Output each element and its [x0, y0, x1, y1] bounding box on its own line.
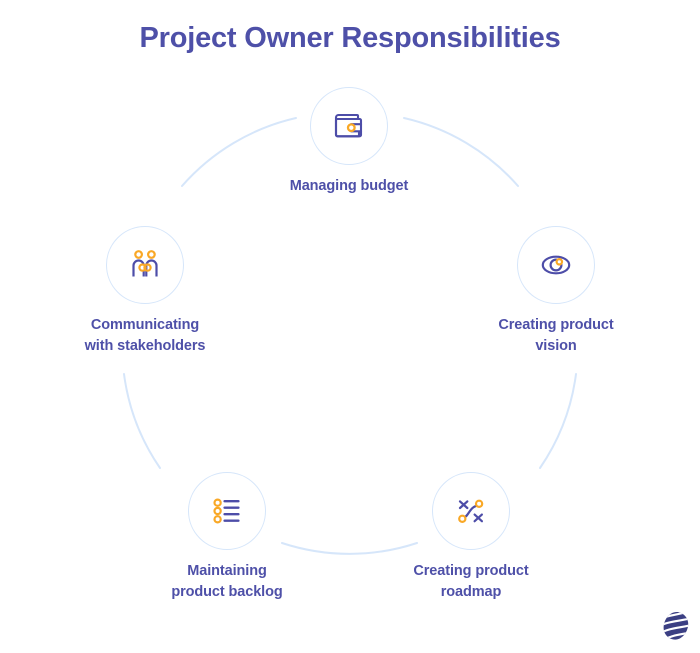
brand-logo-mark	[662, 611, 690, 641]
wallet-icon	[327, 104, 371, 148]
node-label-creating-product-vision: Creating product vision	[476, 315, 636, 357]
node-label-managing-budget: Managing budget	[269, 176, 429, 197]
node-creating-product-vision[interactable]: Creating product vision	[476, 226, 636, 357]
strategy-roadmap-icon	[449, 489, 493, 533]
node-managing-budget[interactable]: Managing budget	[269, 87, 429, 197]
eye-icon	[534, 243, 578, 287]
node-label-maintaining-product-backlog: Maintaining product backlog	[147, 561, 307, 603]
node-communicating-with-stakeholders[interactable]: Communicating with stakeholders	[65, 226, 225, 357]
node-label-communicating-with-stakeholders: Communicating with stakeholders	[65, 315, 225, 357]
node-circle-managing-budget	[310, 87, 388, 165]
page-title: Project Owner Responsibilities	[0, 22, 700, 55]
bulleted-list-icon	[205, 489, 249, 533]
node-circle-creating-product-vision	[517, 226, 595, 304]
node-maintaining-product-backlog[interactable]: Maintaining product backlog	[147, 472, 307, 603]
arc-vision-to-roadmap	[540, 374, 576, 468]
node-circle-creating-product-roadmap	[432, 472, 510, 550]
two-people-icon	[123, 243, 167, 287]
infographic-canvas: Project Owner Responsibilities	[0, 0, 700, 653]
node-creating-product-roadmap[interactable]: Creating product roadmap	[391, 472, 551, 603]
node-circle-communicating-with-stakeholders	[106, 226, 184, 304]
arc-backlog-to-stakeholders	[124, 374, 160, 468]
node-label-creating-product-roadmap: Creating product roadmap	[391, 561, 551, 603]
node-circle-maintaining-product-backlog	[188, 472, 266, 550]
